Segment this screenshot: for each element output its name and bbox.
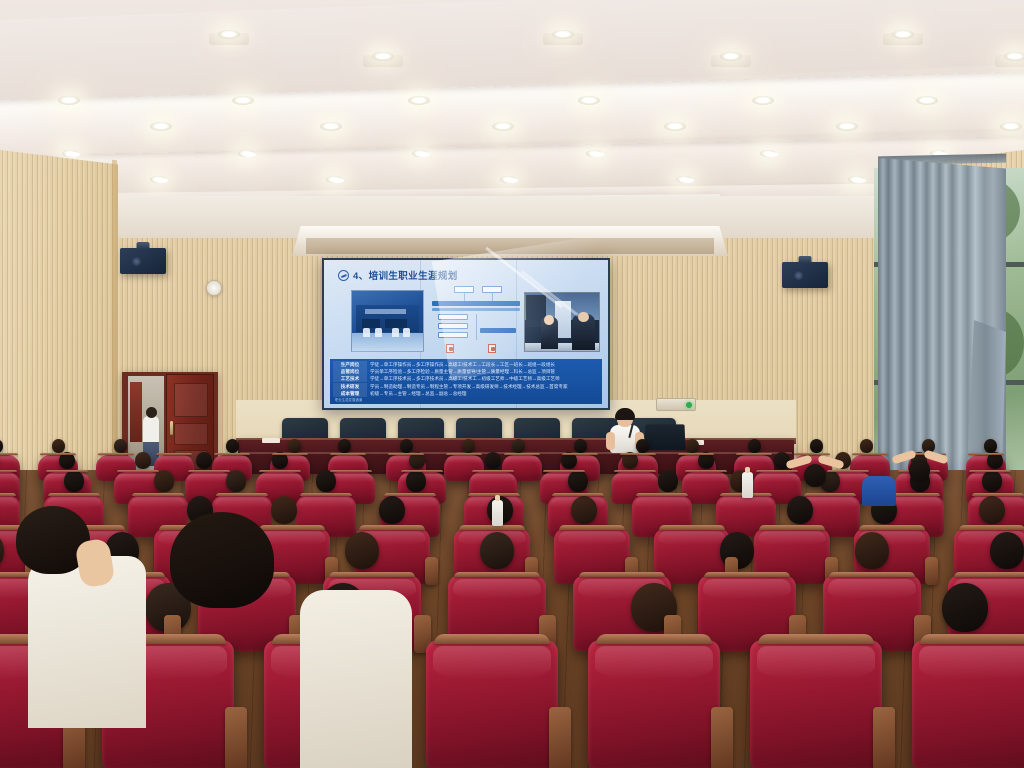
flow-connector <box>476 314 477 340</box>
recessed-downlight <box>232 96 254 105</box>
seat-wood-trim <box>636 493 689 496</box>
ceiling-air-vent <box>656 398 696 411</box>
audience-member-head <box>860 439 873 453</box>
seat-wood-trim <box>459 525 526 529</box>
slide-title-row: 4、培训生职业生涯规划 <box>338 268 458 282</box>
hall-chair <box>403 328 410 337</box>
seat-wood-trim <box>330 453 365 455</box>
seat-wood-trim <box>954 572 1024 578</box>
seat-armrest <box>425 557 438 585</box>
recessed-downlight <box>372 52 394 61</box>
seat-wood-trim <box>214 453 249 455</box>
seat-armrest <box>873 707 895 768</box>
corridor-frame <box>130 382 142 442</box>
recessed-downlight <box>916 96 938 105</box>
audience-member-head <box>316 470 336 492</box>
seat-wood-trim <box>0 453 18 455</box>
audience-member-head <box>64 470 84 492</box>
flow-band <box>480 328 516 333</box>
recessed-downlight <box>720 52 742 61</box>
audience-member-head <box>942 583 988 633</box>
seat-wood-trim <box>579 572 665 578</box>
audience-member-head <box>400 439 413 453</box>
seat-wood-trim <box>388 453 423 455</box>
recessed-downlight <box>408 96 430 105</box>
slide-title: 4、培训生职业生涯规划 <box>353 268 458 282</box>
audience-member-head <box>462 439 475 453</box>
recessed-downlight <box>1004 52 1024 61</box>
career-path-label: 工艺技术 <box>333 375 367 382</box>
recessed-downlight <box>218 30 240 39</box>
recessed-downlight <box>836 122 858 131</box>
seat-wood-trim <box>329 572 415 578</box>
projection-screen: 4、培训生职业生涯规划 <box>322 258 610 410</box>
water-bottle <box>492 500 503 526</box>
analog-wall-clock <box>206 280 222 296</box>
stage-recess-shadow <box>306 238 714 254</box>
career-path-row: 生产岗位学徒→单工序操作员→多工序操作员→高级工/技术工→工段长→工区一班长→班… <box>333 361 599 368</box>
seat-wood-trim <box>852 453 887 455</box>
ceiling <box>0 0 1024 205</box>
hall-panel <box>362 319 380 329</box>
seat-wood-trim <box>446 453 481 455</box>
audience-member-head <box>288 439 301 453</box>
door-panel-upper <box>174 383 208 417</box>
seat-wood-trim <box>259 525 326 529</box>
career-path-row: 品管岗位学员单工序检验→多工序检验→质量主管→质量督导/主管→质量经理→科长→总… <box>333 368 599 375</box>
audience-member-head <box>485 452 501 469</box>
seat-wood-trim <box>40 453 75 455</box>
projected-slide: 4、培训生职业生涯规划 <box>324 260 608 408</box>
photo-trainee-right-head <box>578 312 588 322</box>
door-handle[interactable] <box>170 421 173 435</box>
wall-speaker-right <box>782 262 828 288</box>
audience-member-head <box>982 470 1002 492</box>
seat-wood-trim <box>559 525 626 529</box>
audience-member-head <box>170 512 274 608</box>
flow-band <box>432 308 520 311</box>
audience-member-head <box>406 470 426 492</box>
career-path-row: 技术研发学员→制造助理→制造专员→制程主管→专项开发→高级研发师→技术经理→技术… <box>333 383 599 390</box>
career-path-steps: 初级→专员→主管→经理→总监→副总→总经理 <box>370 390 599 397</box>
flow-connector <box>492 293 493 301</box>
auditorium-seat[interactable] <box>912 640 1024 768</box>
presenter-hair <box>615 408 635 420</box>
seat-wood-trim <box>959 525 1024 529</box>
seat-wood-trim <box>736 453 771 455</box>
recessed-downlight <box>326 176 342 183</box>
auditorium-photo-scene: 4、培训生职业生涯规划 <box>0 0 1024 768</box>
seat-wood-trim <box>758 634 874 644</box>
audience-member-head <box>748 439 761 453</box>
flow-node <box>454 286 474 293</box>
audience-member-head <box>135 452 151 469</box>
slide-photo-training-hall <box>351 290 424 352</box>
seat-wood-trim <box>454 572 540 578</box>
audience-member-head <box>338 439 351 453</box>
recessed-downlight <box>578 96 600 105</box>
seat-armrest <box>549 707 571 768</box>
seat-wood-trim <box>98 453 133 455</box>
recessed-downlight <box>500 176 516 183</box>
recessed-downlight <box>58 96 80 105</box>
audience-member-blue-shirt <box>862 476 896 506</box>
presenter-arm-left <box>606 432 615 450</box>
career-path-row: 成本管理初级→专员→主管→经理→总监→副总→总经理 <box>333 390 599 397</box>
seat-armrest <box>711 707 733 768</box>
career-path-row: 工艺技术学徒→单工序技术员→多工序技术员→高级工/技术工→初级工艺师→中级工艺师… <box>333 375 599 382</box>
seat-wood-trim <box>359 525 426 529</box>
audience-member-head <box>114 439 127 453</box>
hall-chair <box>363 328 370 337</box>
flow-connector <box>464 293 465 301</box>
seat-wood-trim <box>48 493 101 496</box>
auditorium-seat[interactable] <box>588 640 720 768</box>
career-path-label: 生产岗位 <box>333 361 367 368</box>
seat-wood-trim <box>552 493 605 496</box>
recessed-downlight <box>760 150 776 157</box>
seat-wood-trim <box>562 453 597 455</box>
flow-node <box>438 323 468 329</box>
seat-wood-trim <box>968 453 1003 455</box>
flow-node <box>438 314 468 320</box>
wall-speaker-left <box>120 248 166 274</box>
recessed-downlight <box>238 150 254 157</box>
recessed-downlight <box>664 122 686 131</box>
audience-member-head <box>787 496 813 524</box>
audience-member-head <box>571 496 597 524</box>
career-path-steps: 学徒→单工序操作员→多工序操作员→高级工/技术工→工段长→工区一班长→班组一段组… <box>370 361 599 368</box>
career-path-label: 成本管理 <box>333 390 367 397</box>
slide-footnote-text: 职业生涯发展通道 <box>333 397 599 402</box>
career-path-steps: 学员单工序检验→多工序检验→质量主管→质量督导/主管→质量经理→科长→总监→项目… <box>370 368 599 375</box>
audience-member-head <box>512 439 525 453</box>
flow-band <box>432 301 520 306</box>
seat-wood-trim <box>216 493 269 496</box>
seat-wood-trim <box>384 493 437 496</box>
seat-wood-trim <box>300 493 353 496</box>
career-path-steps: 学徒→单工序技术员→多工序技术员→高级工/技术工→初级工艺师→中级工艺师→高级工… <box>370 375 599 382</box>
recessed-downlight <box>586 150 602 157</box>
audience-member-white-top <box>300 590 412 768</box>
audience-member-arms-raised <box>892 448 948 480</box>
flow-person-icon <box>446 344 454 353</box>
desk-paper <box>262 438 280 443</box>
seat-wood-trim <box>504 453 539 455</box>
audience-member-arms-raised <box>786 452 844 486</box>
audience-member-head <box>984 439 997 453</box>
recessed-downlight <box>848 176 864 183</box>
seat-wood-trim <box>156 453 191 455</box>
recessed-downlight <box>150 176 166 183</box>
recessed-downlight <box>320 122 342 131</box>
audience-member-head <box>379 496 405 524</box>
seat-wood-trim <box>859 525 926 529</box>
career-path-label: 品管岗位 <box>333 368 367 375</box>
presenter-laptop <box>645 424 686 450</box>
vent-status-led <box>686 402 692 408</box>
audience-member-head <box>855 532 889 569</box>
recessed-downlight <box>62 150 78 157</box>
recessed-downlight <box>412 150 428 157</box>
seat-armrest <box>225 707 247 768</box>
company-emblem-icon <box>338 270 349 281</box>
hall-chair <box>375 328 382 337</box>
audience-member-head <box>568 470 588 492</box>
audience-member-head <box>52 439 65 453</box>
seat-wood-trim <box>678 453 713 455</box>
door-panel-mid <box>174 423 208 445</box>
auditorium-seat[interactable] <box>750 640 882 768</box>
seat-armrest <box>925 557 938 585</box>
seat-wood-trim <box>132 493 185 496</box>
seat-wood-trim <box>704 572 790 578</box>
audience-member-head <box>686 439 699 453</box>
recessed-downlight <box>892 30 914 39</box>
recessed-downlight <box>676 176 692 183</box>
hall-banner <box>365 309 406 314</box>
audience-member-head <box>979 496 1005 524</box>
audience-member-head <box>658 470 678 492</box>
audience-member-head <box>345 532 379 569</box>
audience-member-head <box>636 439 649 453</box>
seat-wood-trim <box>434 634 550 644</box>
hall-panel <box>385 319 408 329</box>
audience-member-head <box>574 439 587 453</box>
recessed-downlight <box>150 122 172 131</box>
audience-member-head <box>480 532 514 569</box>
recessed-downlight <box>492 122 514 131</box>
seat-wood-trim <box>972 493 1024 496</box>
seat-wood-trim <box>829 572 915 578</box>
seat-wood-trim <box>804 493 857 496</box>
seat-wood-trim <box>272 453 307 455</box>
recessed-downlight <box>752 96 774 105</box>
flow-node <box>438 332 468 338</box>
slide-career-flowchart <box>432 284 520 356</box>
seat-wood-trim <box>759 525 826 529</box>
seat-wood-trim <box>468 493 521 496</box>
career-path-label: 技术研发 <box>333 383 367 390</box>
career-path-steps: 学员→制造助理→制造专员→制程主管→专项开发→高级研发师→技术经理→技术总监→首… <box>370 383 599 390</box>
seat-wood-trim <box>659 525 726 529</box>
recessed-downlight <box>552 30 574 39</box>
auditorium-seat[interactable] <box>426 640 558 768</box>
flow-node <box>482 286 502 293</box>
recessed-downlight <box>1000 122 1022 131</box>
audience-member-head <box>271 496 297 524</box>
audience-member-head <box>226 439 239 453</box>
audience-member-head <box>226 470 246 492</box>
flow-person-icon <box>488 344 496 353</box>
seat-wood-trim <box>0 493 16 496</box>
audience-member-head <box>154 470 174 492</box>
slide-career-path-table: 生产岗位学徒→单工序操作员→多工序操作员→高级工/技术工→工段长→工区一班长→班… <box>330 359 602 404</box>
audience-member-head <box>990 532 1024 569</box>
audience-member-head <box>810 439 823 453</box>
seat-wood-trim <box>596 634 712 644</box>
seat-wood-trim <box>920 634 1024 644</box>
hall-chair <box>392 328 399 337</box>
seat-wood-trim <box>620 453 655 455</box>
water-bottle <box>742 472 753 498</box>
